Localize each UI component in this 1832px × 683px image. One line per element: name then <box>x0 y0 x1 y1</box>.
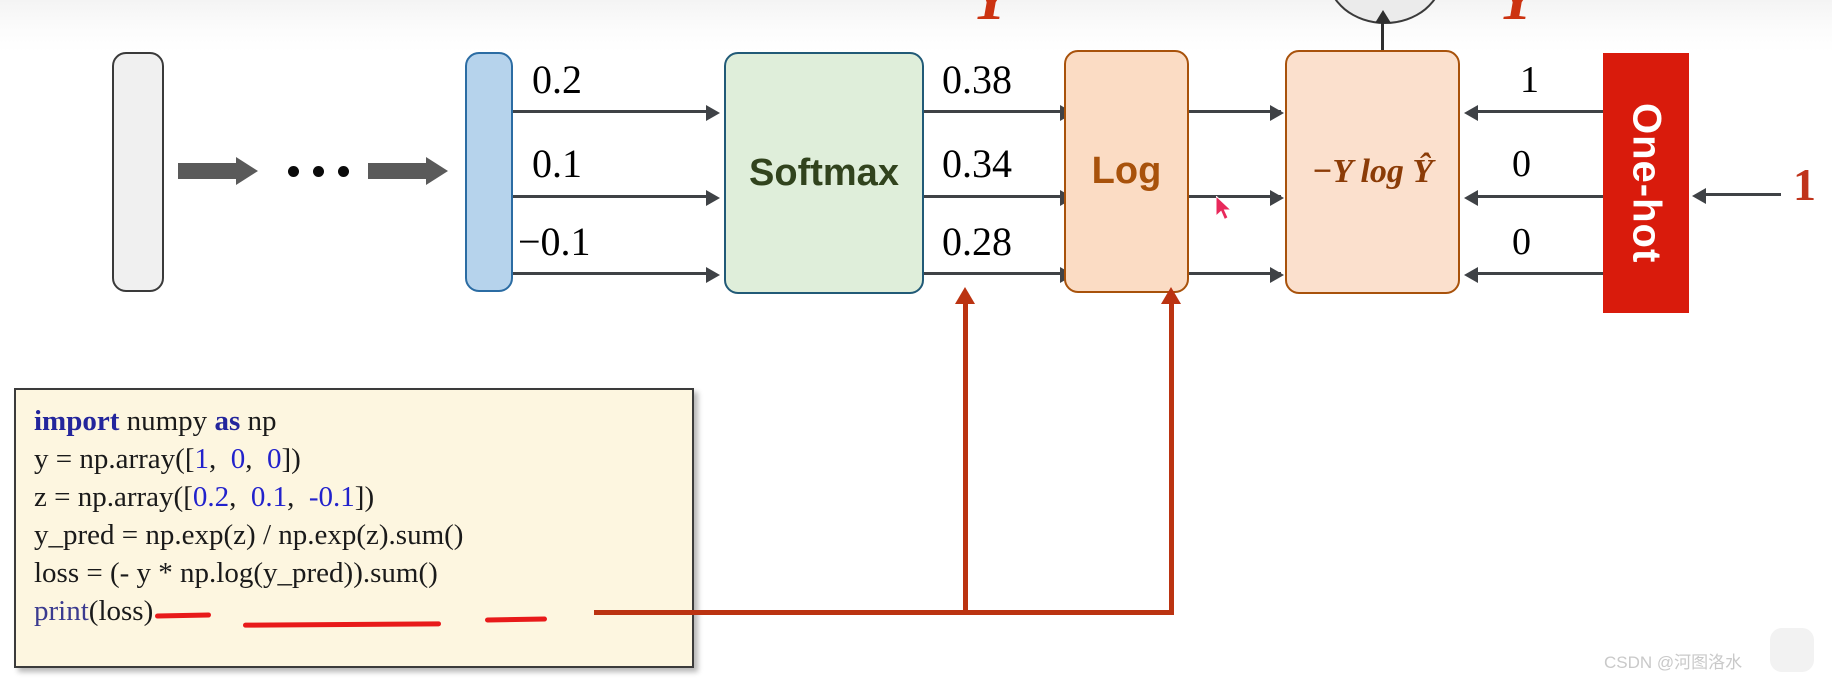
wire-prob-3 <box>924 272 1074 275</box>
onehot-value-2: 0 <box>1512 142 1531 186</box>
code-y-sep1: , <box>209 443 231 475</box>
onehot-value-1: 1 <box>1520 58 1539 102</box>
prob-value-3: 0.28 <box>942 218 1012 265</box>
flow-arrow-1 <box>178 157 258 185</box>
code-line-2: y = np.array([1, 0, 0]) <box>34 440 676 478</box>
csdn-logo-icon <box>1770 628 1814 672</box>
mouse-cursor <box>1216 196 1236 224</box>
wire-onehot-3-head <box>1464 267 1478 283</box>
wire-onehot-3 <box>1478 272 1603 275</box>
wire-logit-1-head <box>706 105 720 121</box>
code-z-close: ]) <box>355 481 374 513</box>
code-z-v1: 0.2 <box>193 481 229 513</box>
wire-onehot-1-head <box>1464 105 1478 121</box>
callout-riser-log <box>963 300 968 612</box>
code-y-sep2: , <box>245 443 267 475</box>
callout-trunk <box>594 610 1174 615</box>
loss-to-circle-arrowhead <box>1375 10 1391 23</box>
wire-onehot-2-head <box>1464 190 1478 206</box>
flow-arrow-2 <box>368 157 448 185</box>
wire-prob-1 <box>924 110 1074 113</box>
onehot-value-3: 0 <box>1512 220 1531 264</box>
cross-entropy-node[interactable]: −Y log Ŷ <box>1285 50 1460 294</box>
prob-value-2: 0.34 <box>942 140 1012 187</box>
wire-logit-3-head <box>706 267 720 283</box>
code-keyword-print: print <box>34 595 89 627</box>
annotation-scalar-one: 1 <box>1793 158 1816 211</box>
logit-value-1: 0.2 <box>532 56 582 103</box>
wire-log-3-head <box>1270 267 1284 283</box>
code-y-v1: 1 <box>194 443 209 475</box>
logit-value-3: −0.1 <box>518 218 591 265</box>
softmax-node[interactable]: Softmax <box>724 52 924 294</box>
wire-onehot-2 <box>1478 195 1603 198</box>
one-hot-node[interactable]: One-hot <box>1603 53 1689 313</box>
wire-logit-3 <box>513 272 713 275</box>
wire-log-1-head <box>1270 105 1284 121</box>
cross-entropy-node-label: −Y log Ŷ <box>1312 153 1433 191</box>
wire-log-2-head <box>1270 190 1284 206</box>
wire-logit-1 <box>513 110 713 113</box>
input-vector-node <box>112 52 164 292</box>
wire-logit-2 <box>513 195 713 198</box>
softmax-node-label: Softmax <box>749 152 899 195</box>
callout-arrowhead-loss <box>1161 287 1181 304</box>
wire-log-3 <box>1189 272 1281 275</box>
log-node-label: Log <box>1092 150 1162 193</box>
callout-arrowhead-log <box>955 287 975 304</box>
code-z-v2: 0.1 <box>251 481 287 513</box>
code-z-sep1: , <box>229 481 251 513</box>
wire-scalar-one-head <box>1692 188 1706 204</box>
code-y-v3: 0 <box>267 443 282 475</box>
log-node[interactable]: Log <box>1064 50 1189 293</box>
ellipsis-dots <box>288 166 349 177</box>
code-line-5: loss = (- y * np.log(y_pred)).sum() <box>34 554 676 592</box>
code-y-v2: 0 <box>231 443 246 475</box>
code-z-sep2: , <box>287 481 309 513</box>
prob-value-1: 0.38 <box>942 56 1012 103</box>
logit-value-2: 0.1 <box>532 140 582 187</box>
callout-riser-loss <box>1169 300 1174 612</box>
annotation-y-right: Y <box>1498 0 1536 35</box>
wire-log-1 <box>1189 110 1281 113</box>
code-line-4: y_pred = np.exp(z) / np.exp(z).sum() <box>34 516 676 554</box>
one-hot-node-label: One-hot <box>1624 103 1669 263</box>
wire-onehot-1 <box>1478 110 1603 113</box>
code-alias-np: np <box>240 405 276 437</box>
diagram-canvas: Y Y 0.2 0.1 −0.1 Softmax 0.38 0.34 0.28 <box>0 0 1832 683</box>
code-keyword-as: as <box>214 405 240 437</box>
code-z-assign: z = np.array([ <box>34 481 193 513</box>
code-line-1: import numpy as np <box>34 402 676 440</box>
code-keyword-import: import <box>34 405 119 437</box>
code-print-arg: (loss) <box>89 595 153 627</box>
wire-logit-2-head <box>706 190 720 206</box>
code-z-v3: -0.1 <box>309 481 355 513</box>
logits-node <box>465 52 513 292</box>
annotation-y-left: Y <box>972 0 1010 35</box>
wire-prob-2 <box>924 195 1074 198</box>
watermark-text: CSDN @河图洛水 <box>1604 648 1742 673</box>
code-y-close: ]) <box>281 443 300 475</box>
code-y-assign: y = np.array([ <box>34 443 194 475</box>
code-line-3: z = np.array([0.2, 0.1, -0.1]) <box>34 478 676 516</box>
wire-scalar-one <box>1705 193 1781 196</box>
code-module-numpy: numpy <box>119 405 214 437</box>
